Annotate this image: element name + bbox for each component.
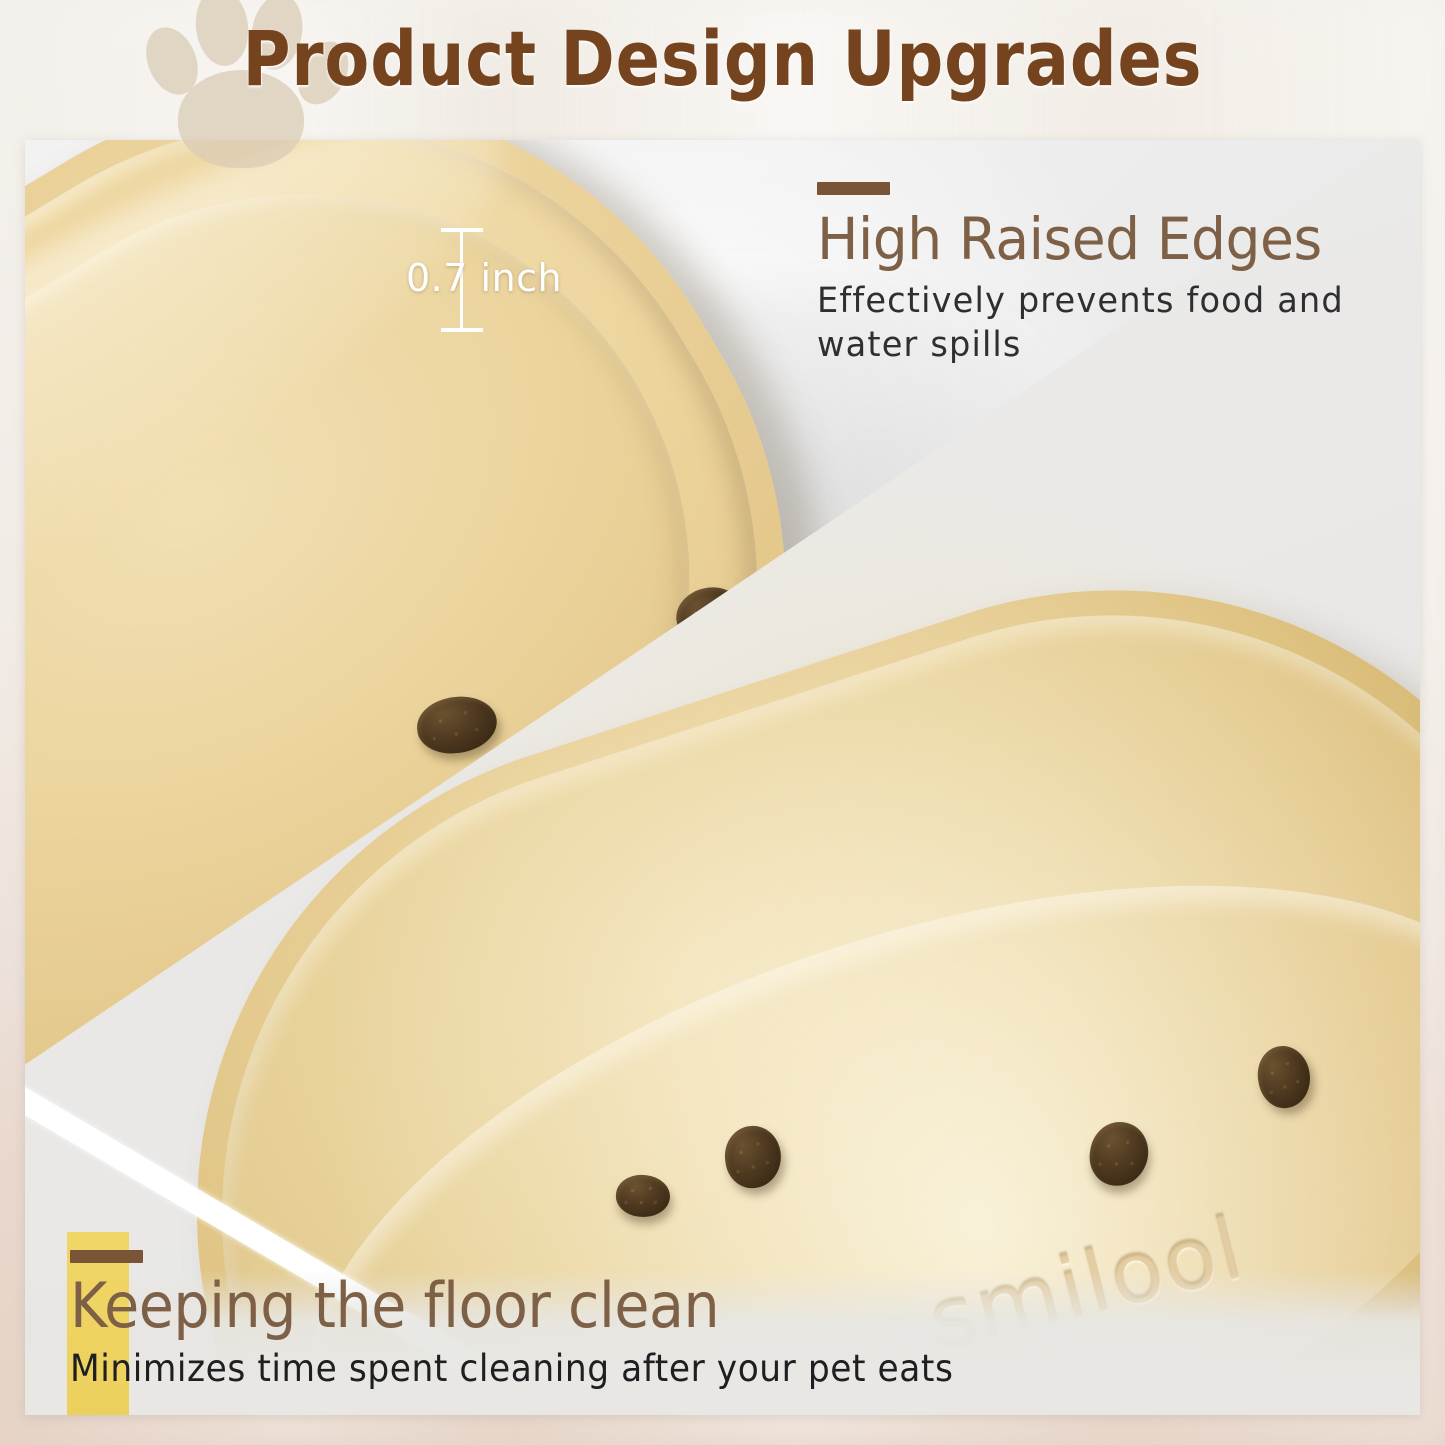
- feature-heading: High Raised Edges: [817, 209, 1363, 269]
- dimension-value: 0.7 inch: [406, 256, 562, 300]
- page-title: Product Design Upgrades: [101, 14, 1344, 103]
- feature-body: Effectively prevents food and water spil…: [817, 279, 1369, 367]
- feature-body: Minimizes time spent cleaning after your…: [70, 1349, 1112, 1390]
- feature-heading: Keeping the floor clean: [70, 1275, 1100, 1337]
- dimension-cap-bottom: [441, 328, 483, 332]
- feature-block-keeping-floor-clean: Keeping the floor clean Minimizes time s…: [70, 1250, 1190, 1390]
- dash-rule-icon: [70, 1250, 143, 1263]
- header: Product Design Upgrades: [0, 0, 1445, 140]
- dash-rule-icon: [817, 182, 890, 195]
- feature-block-high-raised-edges: High Raised Edges Effectively prevents f…: [817, 182, 1392, 368]
- dimension-callout: 0.7 inch: [418, 218, 608, 343]
- product-infographic: Product Design Upgrades: [0, 0, 1445, 1445]
